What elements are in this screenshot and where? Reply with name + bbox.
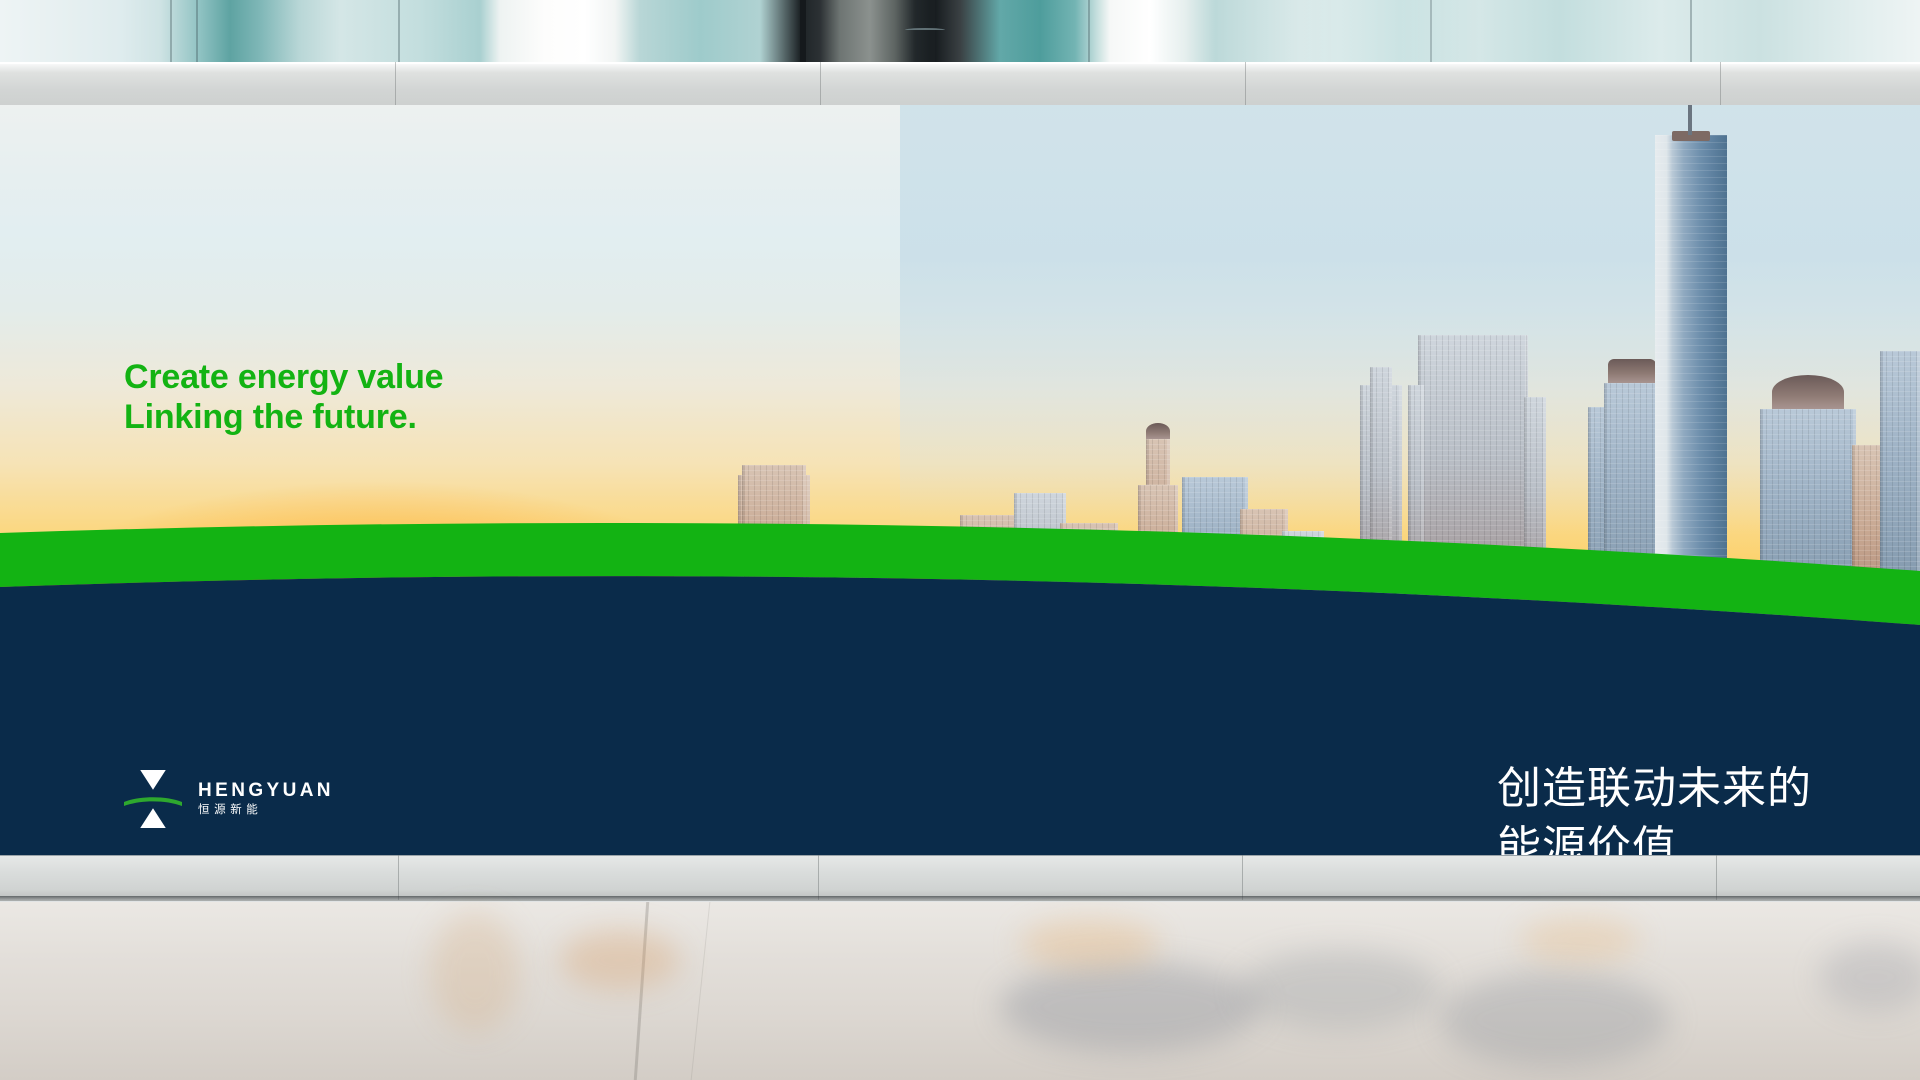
floor-stain [1000, 962, 1260, 1052]
floor-stain [1440, 972, 1670, 1067]
floor-seam [634, 902, 649, 1080]
tagline-line-2: Linking the future. [124, 397, 443, 437]
billboard-panel: Create energy value Linking the future. … [0, 105, 1920, 855]
ledge-seam [395, 62, 396, 105]
ledge-seam [820, 62, 821, 105]
facade-mullion-icon [398, 0, 400, 62]
facade-glare [1180, 0, 1500, 62]
facade-mullion-icon [1088, 0, 1090, 62]
navy-panel [0, 105, 1920, 855]
facade-mullion-icon [800, 0, 806, 62]
glass-facade [0, 0, 1920, 62]
lower-concrete-ledge [0, 855, 1920, 901]
facade-mullion-icon [170, 0, 172, 62]
concrete-floor [0, 902, 1920, 1080]
english-tagline: Create energy value Linking the future. [124, 357, 443, 437]
ledge-seam [1245, 62, 1246, 105]
logo-text-block: HENGYUAN 恒源新能 [198, 781, 334, 817]
ledge-seam [398, 855, 399, 900]
facade-pipe-icon [905, 28, 945, 32]
facade-mullion-icon [196, 0, 198, 62]
ledge-seam [1242, 855, 1243, 900]
floor-stain [560, 930, 680, 990]
chinese-headline: 创造联动未来的 能源价值 [1497, 760, 1812, 855]
logo-chinese-name: 恒源新能 [198, 805, 334, 817]
floor-stain [1240, 950, 1440, 1030]
chinese-headline-line-1: 创造联动未来的 [1497, 760, 1812, 819]
logo-wordmark: HENGYUAN [198, 781, 334, 800]
chinese-headline-line-2: 能源价值 [1497, 819, 1812, 855]
facade-mullion-icon [1690, 0, 1692, 62]
upper-concrete-ledge [0, 62, 1920, 107]
logo-lockup: HENGYUAN 恒源新能 [124, 770, 334, 828]
hengyuan-logo-mark [124, 770, 182, 828]
ledge-seam [1716, 855, 1717, 900]
floor-stain [1820, 942, 1920, 1012]
floor-seam [691, 902, 711, 1080]
ledge-seam [1720, 62, 1721, 105]
billboard-scene: Create energy value Linking the future. … [0, 0, 1920, 1080]
floor-stain [430, 912, 520, 1032]
floor-stain [1520, 918, 1640, 962]
ledge-seam [818, 855, 819, 900]
tagline-line-1: Create energy value [124, 357, 443, 397]
floor-stain [1020, 920, 1160, 968]
